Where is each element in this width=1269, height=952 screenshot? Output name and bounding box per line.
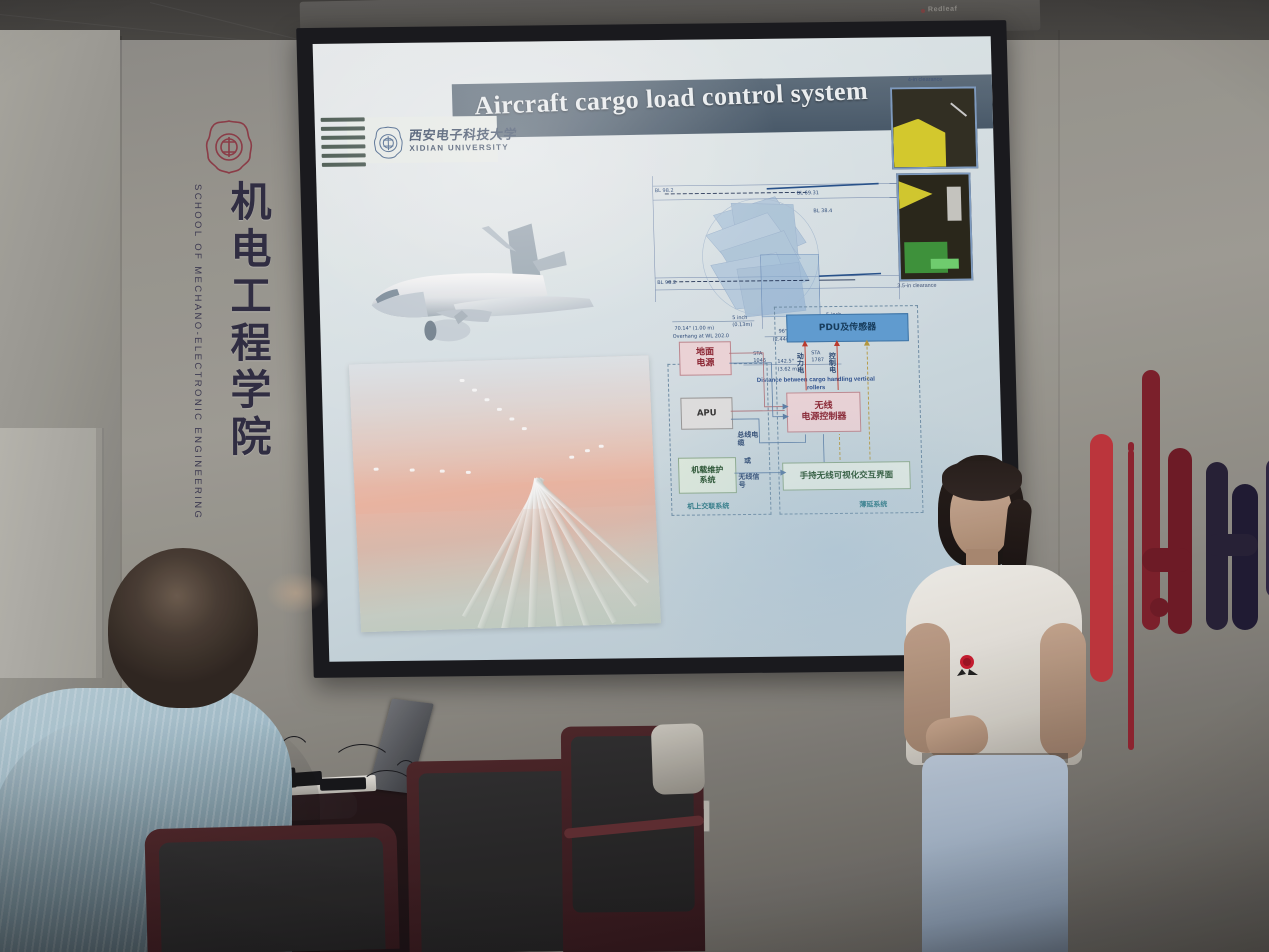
school-sign-english: SCHOOL OF MECHANO-ELECTRONIC ENGINEERING [192,184,203,520]
presenter-hair-front [942,461,1022,501]
screen-brand-label: Redleaf [928,6,958,14]
xidian-emblem-icon [202,118,256,176]
edge-label-power: 动力电 [796,352,805,373]
power-architecture-block-diagram: PDU及传感器 地面 电源 APU 机载维护 系统 无线 电源控制器 手持无线可… [666,309,924,530]
cargo-clearance-inset-top [890,86,978,169]
logo-chinese-name: 西安电子科技大学 [408,124,518,144]
group-label-retrofit: 薄延系统 [859,499,887,509]
presenter-right-arm [1040,623,1086,759]
cargo-clearance-inset-bottom [896,172,973,281]
brand-dot-icon [921,9,925,13]
lecture-room-photo: 机电工程学院 SCHOOL OF MECHANO-ELECTRONIC ENGI… [0,0,1269,952]
cargo-hold-roller-deck-photo [349,355,661,632]
presenter-jeans [922,755,1068,952]
inset-bottom-label: 3.5-in clearance [897,283,936,289]
presenter-standing [900,455,1090,952]
inset-top-label: 4-in clearance [908,77,943,83]
xidian-university-logo-icon [371,125,406,159]
edge-label-control: 控制电 [828,352,837,373]
logo-stripes-decoration [321,117,366,171]
logo-english-name: XIDIAN UNIVERSITY [409,143,509,153]
school-sign-chinese: 机电工程学院 [214,180,272,462]
svg-text:BL 38.4: BL 38.4 [813,208,832,214]
rose-print-icon [954,651,984,681]
chair-right-cushion [651,723,705,795]
school-sign: 机电工程学院 SCHOOL OF MECHANO-ELECTRONIC ENGI… [186,118,272,598]
edge-label-wireless-signal: 无线信号 [738,473,760,489]
edge-label-or: 或 [744,457,751,465]
svg-text:BL 98.2: BL 98.2 [655,188,674,194]
edge-label-bus-cable: 总线电缆 [737,431,759,447]
decorative-wall-art [1080,352,1269,752]
svg-text:BL 98.2: BL 98.2 [657,280,676,286]
chair-left[interactable] [144,823,399,952]
audience-head [108,548,258,708]
freighter-aircraft-render [355,217,614,348]
svg-text:BL 69.31: BL 69.31 [797,190,819,196]
group-label-onboard: 机上交联系统 [687,501,729,511]
